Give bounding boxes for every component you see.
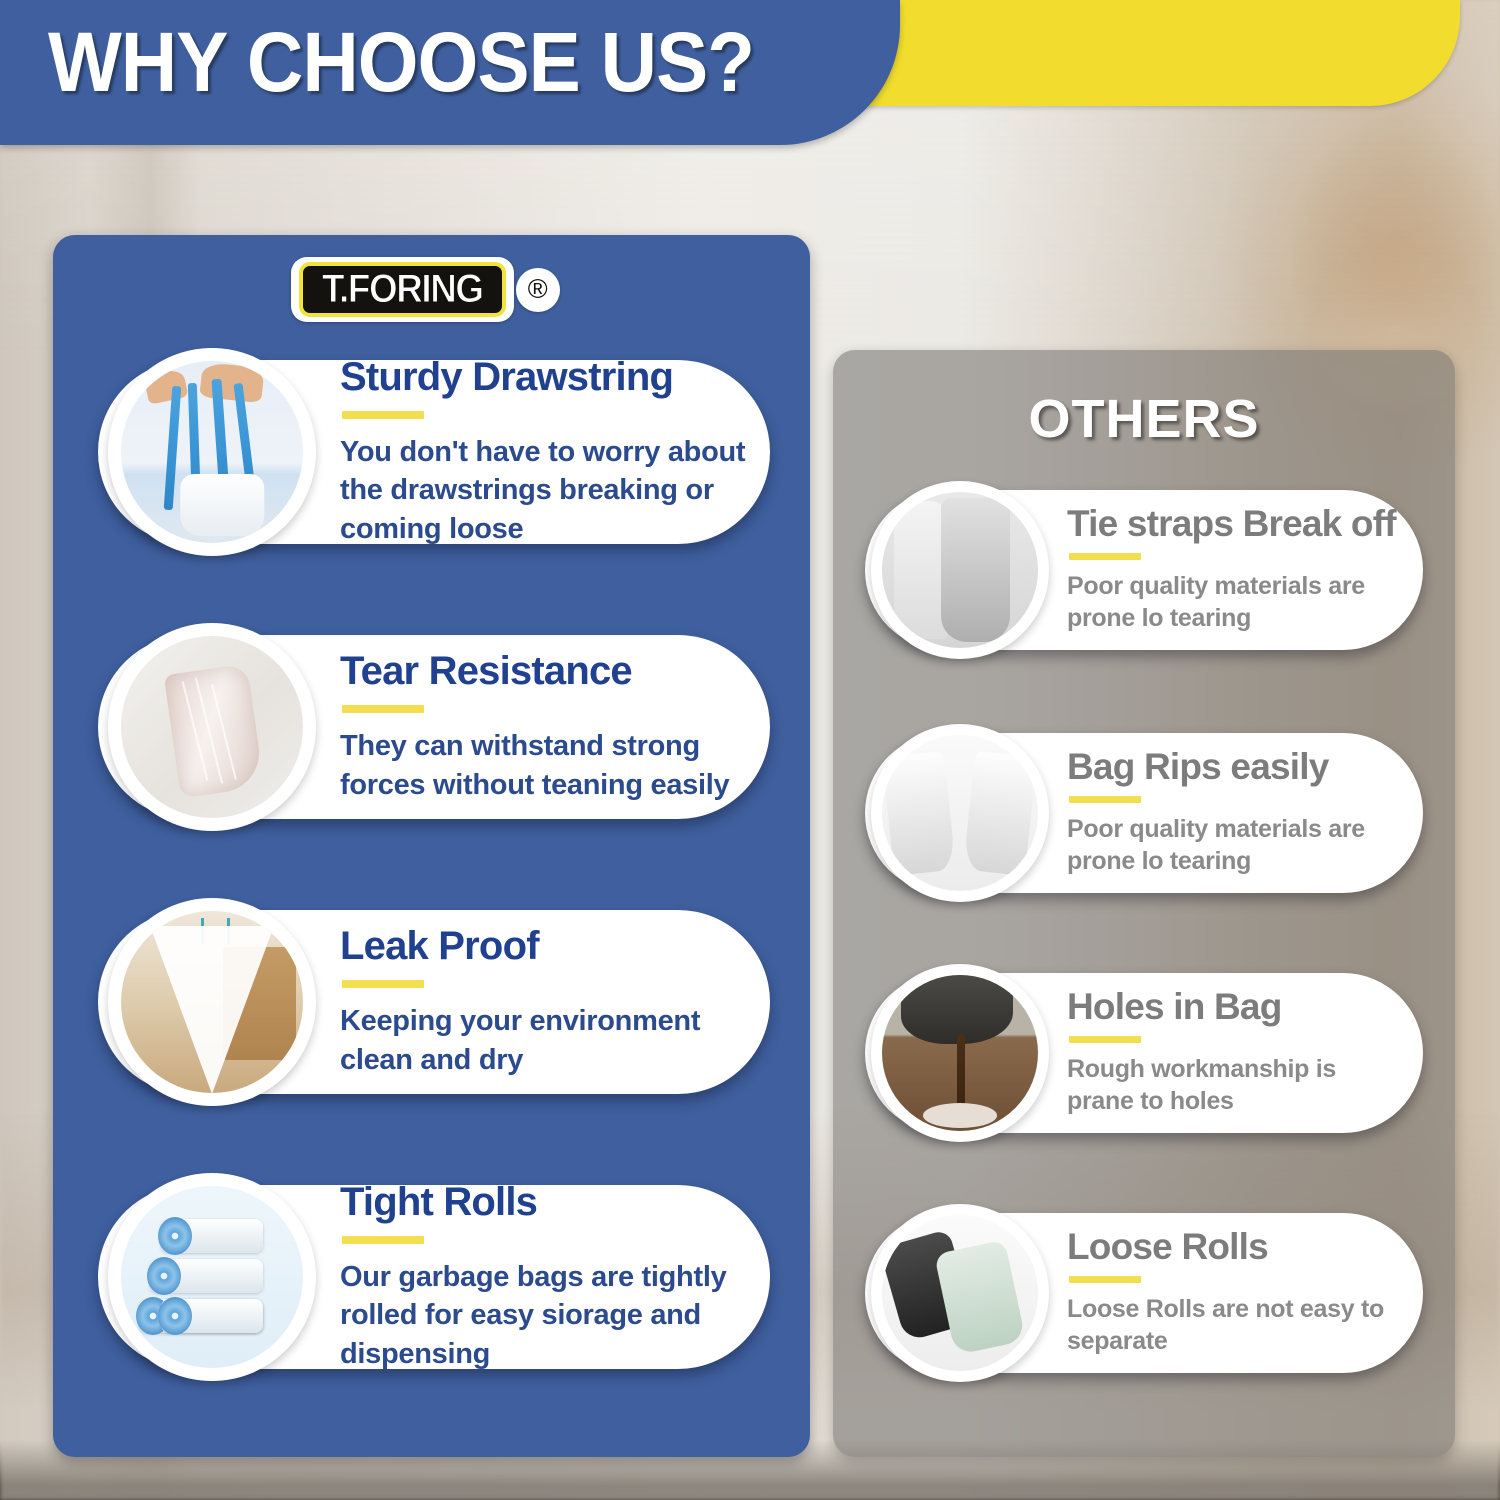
brand-plate: T.FORING <box>291 257 514 322</box>
title-divider <box>342 705 424 713</box>
feature-thumbnail-image <box>121 1186 303 1368</box>
drawback-text: Bag Rips easily Poor quality materials a… <box>1049 748 1423 878</box>
drawback-description: Poor quality materials are prone lo tear… <box>1067 570 1409 635</box>
brand-inner-border: T.FORING <box>299 262 506 317</box>
feature-thumbnail-image <box>121 361 303 543</box>
drawback-thumbnail <box>871 481 1049 659</box>
feature-description: Our garbage bags are tightly rolled for … <box>340 1258 756 1373</box>
drawback-card[interactable]: Holes in Bag Rough workmanship is prane … <box>865 973 1423 1133</box>
title-divider <box>342 980 424 988</box>
feature-title: Tear Resistance <box>340 650 756 692</box>
infographic-canvas: WHY CHOOSE US? T.FORING ® <box>0 0 1500 1500</box>
brand-name: T.FORING <box>322 269 483 309</box>
page-title: WHY CHOOSE US? <box>48 14 754 111</box>
others-heading: OTHERS <box>833 388 1455 450</box>
drawback-title: Loose Rolls <box>1067 1228 1409 1267</box>
drawback-text: Loose Rolls Loose Rolls are not easy to … <box>1049 1228 1423 1358</box>
title-divider <box>1069 1036 1141 1043</box>
drawback-title: Holes in Bag <box>1067 988 1409 1027</box>
drawback-text: Tie straps Break off Poor quality materi… <box>1049 505 1423 635</box>
drawback-thumbnail <box>871 1204 1049 1382</box>
feature-card[interactable]: Sturdy Drawstring You don't have to worr… <box>98 360 770 544</box>
feature-title: Leak Proof <box>340 925 756 967</box>
feature-description: They can withstand strong forces without… <box>340 727 756 804</box>
title-divider <box>342 411 424 419</box>
drawback-card[interactable]: Loose Rolls Loose Rolls are not easy to … <box>865 1213 1423 1373</box>
header-blue-banner: WHY CHOOSE US? <box>0 0 900 145</box>
feature-thumbnail <box>108 898 316 1106</box>
feature-card[interactable]: Tear Resistance They can withstand stron… <box>98 635 770 819</box>
feature-card[interactable]: Leak Proof Keeping your environment clea… <box>98 910 770 1094</box>
drawback-card[interactable]: Bag Rips easily Poor quality materials a… <box>865 733 1423 893</box>
feature-description: Keeping your environment clean and dry <box>340 1002 756 1079</box>
brand-logo: T.FORING ® <box>291 257 560 322</box>
ours-panel: T.FORING ® <box>53 235 810 1457</box>
feature-thumbnail <box>108 1173 316 1381</box>
feature-title: Tight Rolls <box>340 1181 756 1223</box>
drawback-title: Bag Rips easily <box>1067 748 1409 787</box>
title-divider <box>1069 553 1141 560</box>
drawback-thumbnail-image <box>882 975 1038 1131</box>
title-divider <box>1069 1276 1141 1283</box>
feature-thumbnail-image <box>121 911 303 1093</box>
feature-thumbnail-image <box>121 636 303 818</box>
drawback-text: Holes in Bag Rough workmanship is prane … <box>1049 988 1423 1118</box>
drawback-description: Rough workmanship is prane to holes <box>1067 1053 1409 1118</box>
drawback-description: Poor quality materials are prone lo tear… <box>1067 813 1409 878</box>
feature-text: Leak Proof Keeping your environment clea… <box>316 925 770 1079</box>
feature-thumbnail <box>108 348 316 556</box>
feature-text: Tear Resistance They can withstand stron… <box>316 650 770 804</box>
drawback-card[interactable]: Tie straps Break off Poor quality materi… <box>865 490 1423 650</box>
feature-title: Sturdy Drawstring <box>340 356 756 398</box>
drawback-title: Tie straps Break off <box>1067 505 1409 544</box>
drawback-thumbnail-image <box>882 492 1038 648</box>
feature-text: Tight Rolls Our garbage bags are tightly… <box>316 1181 770 1373</box>
drawback-thumbnail <box>871 964 1049 1142</box>
drawback-thumbnail-image <box>882 1215 1038 1371</box>
drawback-thumbnail-image <box>882 735 1038 891</box>
title-divider <box>342 1236 424 1244</box>
drawback-description: Loose Rolls are not easy to separate <box>1067 1293 1409 1358</box>
feature-thumbnail <box>108 623 316 831</box>
feature-description: You don't have to worry about the drawst… <box>340 433 756 548</box>
others-panel: OTHERS Tie straps Break off Poor quality… <box>833 350 1455 1457</box>
registered-trademark-icon: ® <box>516 268 560 312</box>
feature-card[interactable]: Tight Rolls Our garbage bags are tightly… <box>98 1185 770 1369</box>
title-divider <box>1069 796 1141 803</box>
drawback-thumbnail <box>871 724 1049 902</box>
feature-text: Sturdy Drawstring You don't have to worr… <box>316 356 770 548</box>
